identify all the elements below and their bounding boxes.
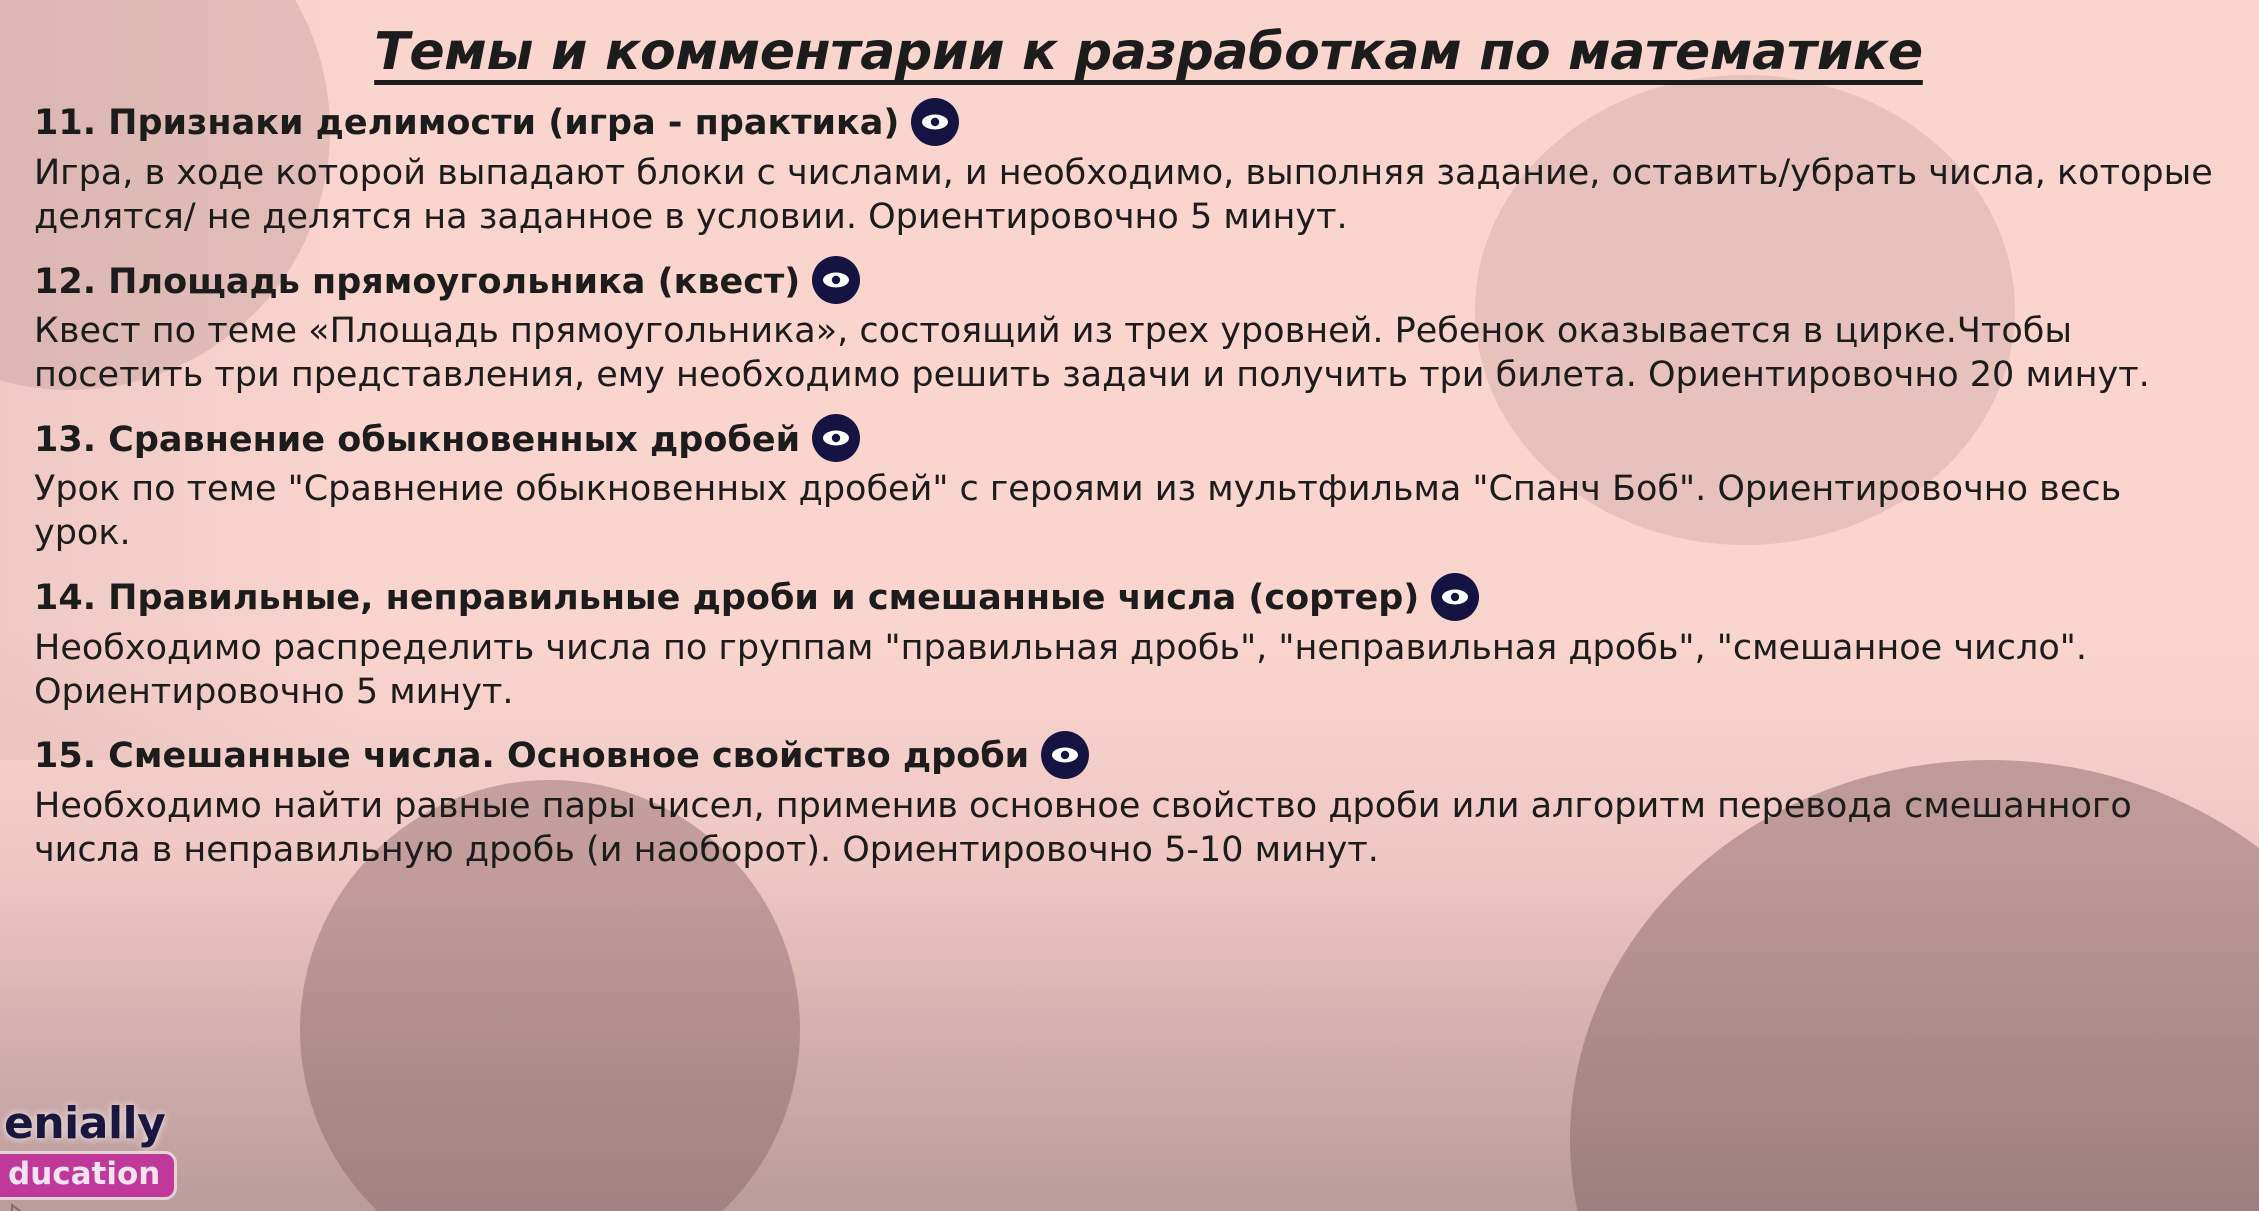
list-item: 11. Признаки делимости (игра - практика)… <box>34 100 2225 239</box>
page-title: Темы и комментарии к разработкам по мате… <box>34 22 2225 82</box>
item-heading-row: 13. Сравнение обыкновенных дробей <box>34 416 2225 464</box>
slide-content: Темы и комментарии к разработкам по мате… <box>0 22 2259 872</box>
item-heading-row: 12. Площадь прямоугольника (квест) <box>34 258 2225 306</box>
item-heading-text: 14. Правильные, неправильные дроби и сме… <box>34 578 1419 619</box>
item-heading-text: 11. Признаки делимости (игра - практика) <box>34 103 899 144</box>
list-item: 13. Сравнение обыкновенных дробей Урок п… <box>34 416 2225 555</box>
eye-icon[interactable] <box>1431 573 1479 621</box>
eye-icon[interactable] <box>812 414 860 462</box>
cursor-arrow-icon <box>8 1201 42 1211</box>
item-heading-row: 15. Смешанные числа. Основное свойство д… <box>34 733 2225 781</box>
item-heading-row: 14. Правильные, неправильные дроби и сме… <box>34 575 2225 623</box>
item-body-text: Квест по теме «Площадь прямоугольника», … <box>34 309 2224 397</box>
item-heading-text: 12. Площадь прямоугольника (квест) <box>34 262 800 303</box>
genially-education-badge: ducation <box>0 1154 174 1197</box>
item-body-text: Игра, в ходе которой выпадают блоки с чи… <box>34 151 2224 239</box>
eye-icon[interactable] <box>1041 731 1089 779</box>
genially-logo[interactable]: enially ducation <box>0 1102 192 1197</box>
item-heading-row: 11. Признаки делимости (игра - практика) <box>34 100 2225 148</box>
list-item: 14. Правильные, неправильные дроби и сме… <box>34 575 2225 714</box>
item-body-text: Урок по теме "Сравнение обыкновенных дро… <box>34 467 2224 555</box>
presentation-slide: Темы и комментарии к разработкам по мате… <box>0 0 2259 1211</box>
item-body-text: Необходимо распределить числа по группам… <box>34 626 2224 714</box>
list-item: 12. Площадь прямоугольника (квест) Квест… <box>34 258 2225 397</box>
item-heading-text: 13. Сравнение обыкновенных дробей <box>34 420 800 461</box>
genially-wordmark: enially <box>0 1102 192 1146</box>
item-heading-text: 15. Смешанные числа. Основное свойство д… <box>34 736 1029 777</box>
list-item: 15. Смешанные числа. Основное свойство д… <box>34 733 2225 872</box>
eye-icon[interactable] <box>812 256 860 304</box>
item-body-text: Необходимо найти равные пары чисел, прим… <box>34 784 2224 872</box>
eye-icon[interactable] <box>911 98 959 146</box>
